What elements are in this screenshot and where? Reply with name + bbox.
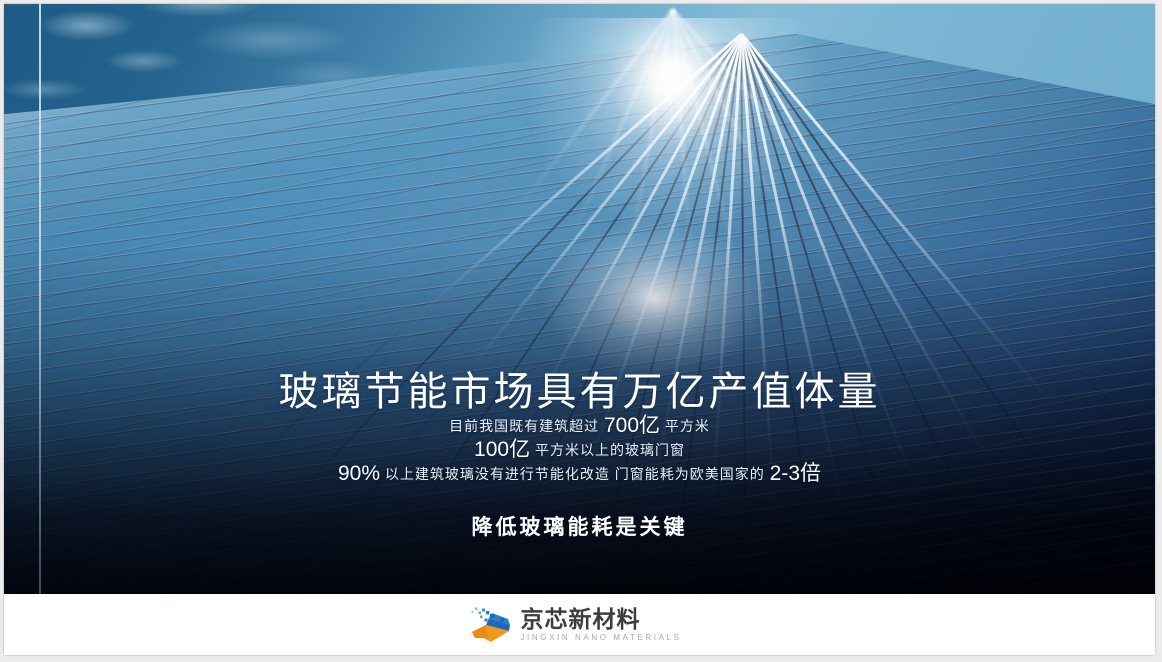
jingxin-pixel-swoosh-logo-icon [469, 605, 511, 645]
logo-name-cn: 京芯新材料 [520, 607, 681, 631]
stat-line-glass-doors-windows: 100亿 平方米以上的玻璃门窗 [4, 438, 1155, 462]
page-title: 玻璃节能市场具有万亿产值体量 [4, 370, 1155, 414]
kicker-statement: 降低玻璃能耗是关键 [4, 511, 1155, 541]
hero-background-photo: 玻璃节能市场具有万亿产值体量 目前我国既有建筑超过 700亿 平方米 100亿 … [4, 4, 1155, 594]
stat-line-retrofit-ratio: 90% 以上建筑玻璃没有进行节能化改造 门窗能耗为欧美国家的 2-3倍 [4, 462, 1155, 486]
stat-middle-text: 以上建筑玻璃没有进行节能化改造 门窗能耗为欧美国家的 [385, 466, 765, 482]
logo-text-block: 京芯新材料 JINGXIN NANO MATERIALS [520, 607, 681, 641]
logo-name-en: JINGXIN NANO MATERIALS [520, 634, 681, 642]
stat-value-percent: 90% [338, 462, 380, 485]
stat-value: 700亿 [604, 414, 660, 437]
stat-line-existing-buildings: 目前我国既有建筑超过 700亿 平方米 [4, 414, 1155, 438]
stat-suffix: 平方米 [665, 418, 710, 434]
stat-value: 100亿 [474, 438, 530, 461]
stat-suffix: 平方米以上的玻璃门窗 [535, 442, 685, 458]
company-logo: 京芯新材料 JINGXIN NANO MATERIALS [469, 605, 681, 645]
hero-text-block: 玻璃节能市场具有万亿产值体量 目前我国既有建筑超过 700亿 平方米 100亿 … [4, 370, 1155, 541]
presentation-slide: 玻璃节能市场具有万亿产值体量 目前我国既有建筑超过 700亿 平方米 100亿 … [4, 4, 1155, 655]
stat-value-multiple: 2-3倍 [770, 462, 821, 485]
stat-prefix: 目前我国既有建筑超过 [449, 418, 599, 434]
slide-footer: 京芯新材料 JINGXIN NANO MATERIALS [4, 594, 1155, 655]
